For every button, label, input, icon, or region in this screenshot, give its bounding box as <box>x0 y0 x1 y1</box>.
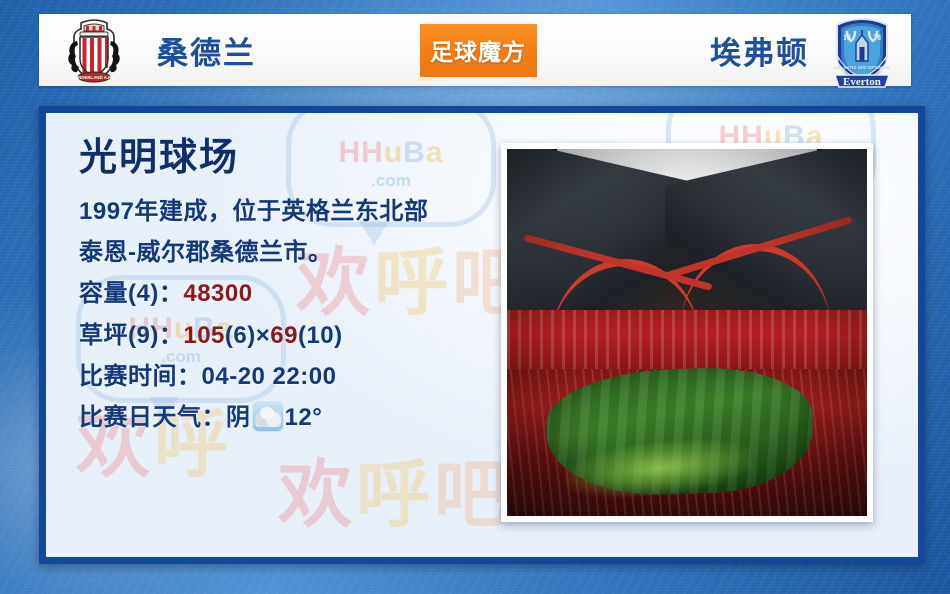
everton-crest: 18 78 NIL SATIS NISI OPTIMUM Everton <box>825 17 899 83</box>
pitch-width: 69 <box>270 322 298 349</box>
match-header: SUNDERLAND A.F.C. 桑德兰 足球魔方 埃弗顿 <box>39 14 911 86</box>
pitch-length-rank: (6) <box>225 322 256 349</box>
home-team-name: 桑德兰 <box>157 28 256 73</box>
stadium-info-panel: HHuBa .com HHuBa .com HHuBa .com 欢呼吧 欢呼吧… <box>39 106 925 564</box>
stadium-desc-line-1: 1997年建成，位于英格兰东北部 <box>79 191 499 232</box>
kickoff-value: 04-20 22:00 <box>202 363 337 390</box>
site-logo-text: 足球魔方 <box>430 33 526 67</box>
pitch-row: 草坪(9)：105(6)×69(10) <box>79 315 499 356</box>
weather-row: 比赛日天气：阴12° <box>79 397 499 438</box>
pitch-length: 105 <box>183 322 225 349</box>
sunderland-crest: SUNDERLAND A.F.C. <box>57 17 131 83</box>
capacity-row: 容量(4)：48300 <box>79 273 499 314</box>
weather-condition: 阴 <box>226 404 251 431</box>
stadium-photo-frame <box>501 143 873 522</box>
page-root: SUNDERLAND A.F.C. 桑德兰 足球魔方 埃弗顿 <box>0 0 950 594</box>
svg-text:18: 18 <box>843 33 851 42</box>
svg-text:SUNDERLAND A.F.C.: SUNDERLAND A.F.C. <box>72 75 116 80</box>
pitch-width-rank: (10) <box>298 322 343 349</box>
everton-wordmark: Everton <box>843 76 881 88</box>
capacity-value: 48300 <box>183 280 252 307</box>
kickoff-label: 比赛时间： <box>79 363 202 390</box>
svg-text:78: 78 <box>873 33 881 42</box>
kickoff-row: 比赛时间：04-20 22:00 <box>79 356 499 397</box>
stadium-desc-line-2: 泰恩-威尔郡桑德兰市。 <box>79 232 499 273</box>
cloudy-icon <box>252 400 284 432</box>
stadium-photo <box>507 149 867 516</box>
weather-temp: 12° <box>285 404 323 431</box>
away-team-name: 埃弗顿 <box>710 28 809 73</box>
site-logo[interactable]: 足球魔方 <box>420 24 537 77</box>
capacity-label: 容量(4)： <box>79 280 183 307</box>
away-team-block[interactable]: 埃弗顿 18 78 NIL SATIS NISI OPTIMUM E <box>549 14 911 86</box>
site-logo-block[interactable]: 足球魔方 <box>407 14 549 86</box>
page-title: 光明球场 <box>79 139 499 179</box>
stadium-info-text: 光明球场 1997年建成，位于英格兰东北部 泰恩-威尔郡桑德兰市。 容量(4)：… <box>79 139 499 438</box>
pitch-label: 草坪(9)： <box>79 322 183 349</box>
pitch-times: × <box>256 322 271 349</box>
watermark-cheer-bottom: 欢呼吧 <box>278 435 512 542</box>
weather-label: 比赛日天气： <box>79 404 226 431</box>
home-team-block[interactable]: SUNDERLAND A.F.C. 桑德兰 <box>39 14 407 86</box>
svg-text:NIL SATIS NISI OPTIMUM: NIL SATIS NISI OPTIMUM <box>835 65 890 70</box>
photo-vignette <box>507 149 867 516</box>
